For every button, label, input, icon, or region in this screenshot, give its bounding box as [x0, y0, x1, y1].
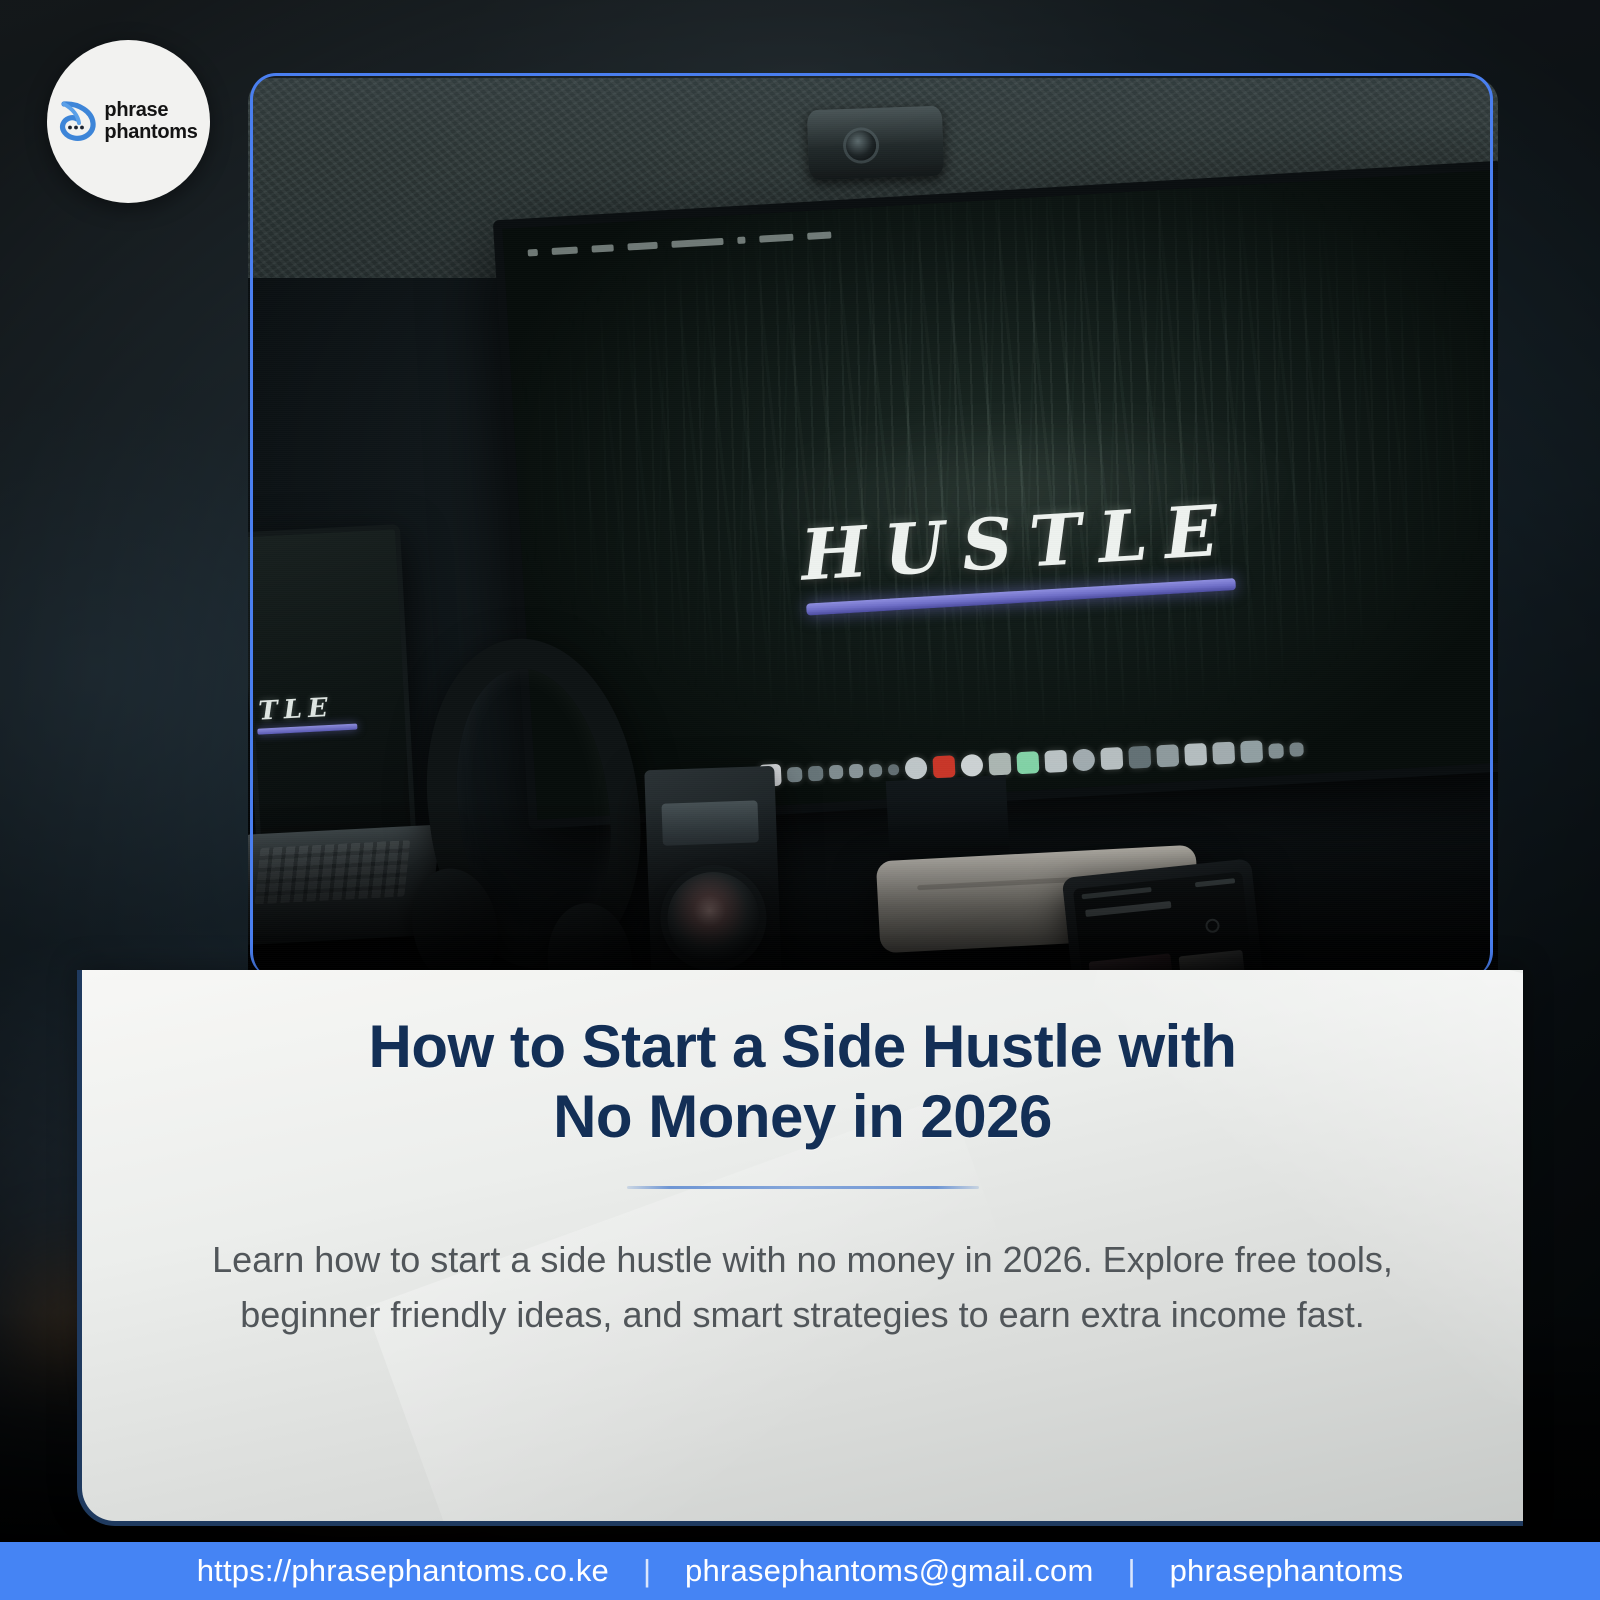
logo-word-1: phrase [104, 100, 197, 122]
footer-separator: | [609, 1553, 685, 1589]
content-card: How to Start a Side Hustle with No Money… [77, 970, 1523, 1526]
logo-word-2: phantoms [104, 122, 197, 144]
phantom-swirl-icon [55, 98, 99, 146]
page-title: How to Start a Side Hustle with No Money… [162, 1012, 1443, 1152]
contact-footer-bar: https://phrasephantoms.co.ke | phrasepha… [0, 1542, 1600, 1600]
brand-logo[interactable]: phrase phantoms [47, 40, 210, 203]
footer-email-link[interactable]: phrasephantoms@gmail.com [685, 1553, 1093, 1589]
card-content: How to Start a Side Hustle with No Money… [82, 970, 1523, 1343]
logo-inner: phrase phantoms [55, 98, 197, 146]
footer-social-handle[interactable]: phrasephantoms [1170, 1553, 1404, 1589]
headline-line-2: No Money in 2026 [553, 1083, 1052, 1150]
photo-grain [248, 78, 1498, 978]
footer-row: https://phrasephantoms.co.ke | phrasepha… [197, 1553, 1404, 1589]
subtitle-text: Learn how to start a side hustle with no… [162, 1233, 1443, 1342]
footer-separator: | [1094, 1553, 1170, 1589]
title-divider [627, 1186, 979, 1189]
headline-line-1: How to Start a Side Hustle with [369, 1013, 1237, 1080]
footer-website-link[interactable]: https://phrasephantoms.co.ke [197, 1553, 609, 1589]
desk-setup-photo: HUSTLE [248, 78, 1498, 978]
logo-wordmark: phrase phantoms [104, 100, 197, 143]
